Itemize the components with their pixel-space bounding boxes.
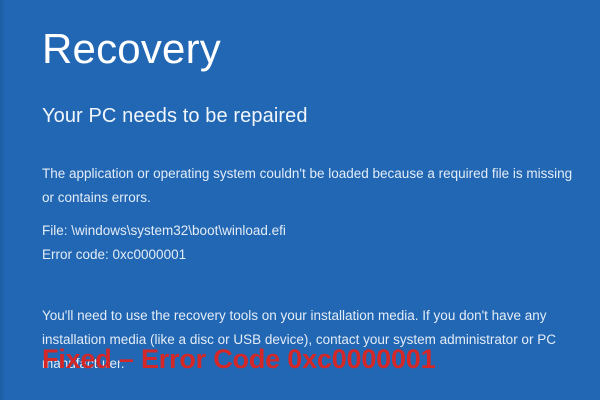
- left-edge-shade: [0, 0, 5, 400]
- error-message-paragraph: The application or operating system coul…: [42, 162, 576, 210]
- page-title: Recovery: [42, 27, 221, 71]
- page-subtitle: Your PC needs to be repaired: [42, 104, 308, 128]
- fixed-error-code-annotation: Fixed – Error Code 0xc0000001: [42, 345, 435, 375]
- error-detail-list: File: \windows\system32\boot\winload.efi…: [42, 219, 286, 267]
- recovery-error-screen: Recovery Your PC needs to be repaired Th…: [0, 0, 600, 400]
- error-code-line: Error code: 0xc0000001: [42, 243, 286, 267]
- file-path-line: File: \windows\system32\boot\winload.efi: [42, 219, 286, 243]
